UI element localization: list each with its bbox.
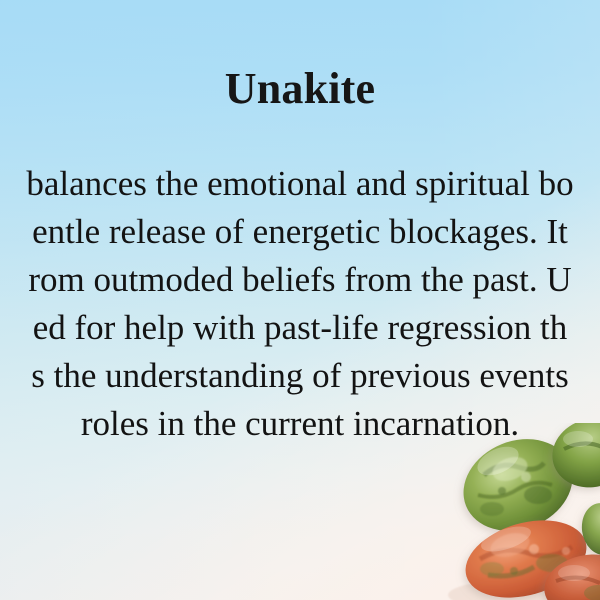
body-line: entle release of energetic blockages. It xyxy=(0,208,600,256)
body-line: s the understanding of previous events xyxy=(0,352,600,400)
body-line: roles in the current incarnation. xyxy=(0,400,600,448)
page-title: Unakite xyxy=(0,65,600,113)
body-line: ed for help with past-life regression th xyxy=(0,304,600,352)
slide-body-text: balances the emotional and spiritual bo … xyxy=(0,160,600,448)
presentation-slide: Unakite balances the emotional and spiri… xyxy=(0,0,600,600)
body-line: rom outmoded beliefs from the past. U xyxy=(0,256,600,304)
body-line: balances the emotional and spiritual bo xyxy=(0,160,600,208)
unakite-stones-image xyxy=(406,423,600,600)
